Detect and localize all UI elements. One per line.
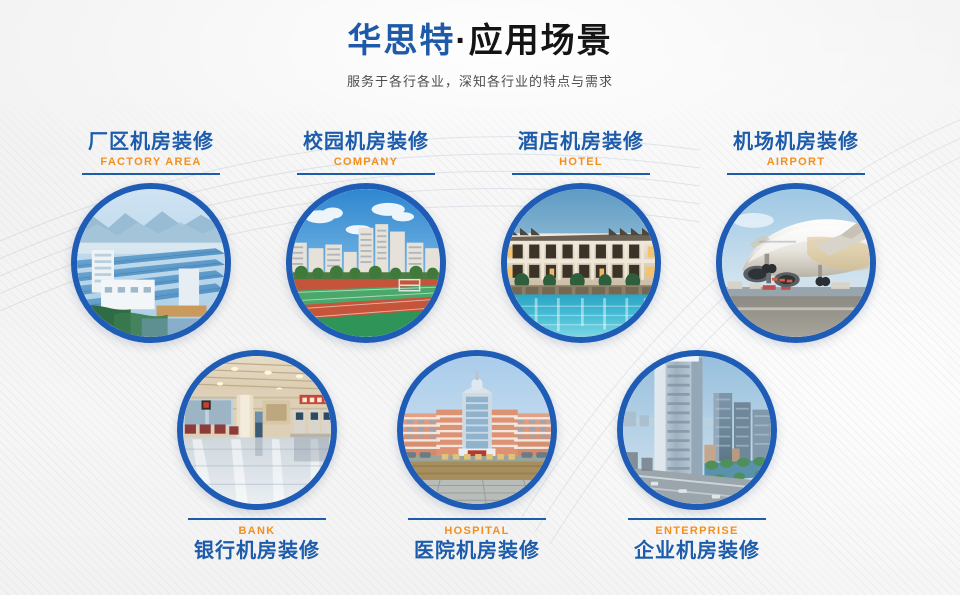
scenario-label-cn: 厂区机房装修 (51, 130, 251, 154)
banner-header: 华思特·应用场景 服务于各行各业，深知各行业的特点与需求 (0, 22, 960, 90)
scenario-label-cn: 银行机房装修 (157, 539, 357, 563)
airport-airplane-illustration (722, 189, 870, 337)
enterprise-skyline-illustration (623, 356, 771, 504)
airport-airplane-photo[interactable] (716, 183, 876, 343)
title-brand: 华思特 (347, 22, 455, 60)
label-underline (188, 518, 326, 520)
bank-lobby-photo[interactable] (177, 350, 337, 510)
scenario-label-cn: 企业机房装修 (597, 539, 797, 563)
scenario-card-hospital[interactable]: HOSPITAL 医院机房装修 (377, 350, 577, 563)
scenario-label-cn: 校园机房装修 (266, 130, 466, 154)
enterprise-skyline-photo[interactable] (617, 350, 777, 510)
hotel-resort-photo[interactable] (501, 183, 661, 343)
scenario-label-cn: 机场机房装修 (696, 130, 896, 154)
scenario-label-cn: 酒店机房装修 (481, 130, 681, 154)
title-rest: 应用场景 (469, 22, 613, 60)
title-separator: · (455, 22, 468, 60)
label-underline (727, 173, 865, 175)
hospital-building-photo[interactable] (397, 350, 557, 510)
page-title: 华思特·应用场景 (0, 22, 960, 61)
scenario-card-airport[interactable]: 机场机房装修 AIRPORT (696, 130, 896, 343)
scenario-label-en: HOSPITAL (377, 523, 577, 539)
scenario-label-en: ENTERPRISE (597, 523, 797, 539)
scenario-label-en: HOTEL (481, 154, 681, 170)
scenario-label-en: FACTORY AREA (51, 154, 251, 170)
campus-illustration (292, 189, 440, 337)
bank-lobby-illustration (183, 356, 331, 504)
scenario-card-enterprise[interactable]: ENTERPRISE 企业机房装修 (597, 350, 797, 563)
label-underline (628, 518, 766, 520)
scenario-label-en: COMPANY (266, 154, 466, 170)
scenario-card-bank[interactable]: BANK 银行机房装修 (157, 350, 357, 563)
scenario-card-hotel[interactable]: 酒店机房装修 HOTEL (481, 130, 681, 343)
label-underline (408, 518, 546, 520)
label-underline (82, 173, 220, 175)
page-subtitle: 服务于各行各业，深知各行业的特点与需求 (0, 71, 960, 90)
hospital-building-illustration (403, 356, 551, 504)
scenario-card-company[interactable]: 校园机房装修 COMPANY (266, 130, 466, 343)
label-underline (297, 173, 435, 175)
factory-area-illustration (77, 189, 225, 337)
scenario-card-factory[interactable]: 厂区机房装修 FACTORY AREA (51, 130, 251, 343)
hotel-resort-illustration (507, 189, 655, 337)
scenario-label-en: BANK (157, 523, 357, 539)
scenario-label-en: AIRPORT (696, 154, 896, 170)
factory-area-photo[interactable] (71, 183, 231, 343)
scenario-label-cn: 医院机房装修 (377, 539, 577, 563)
label-underline (512, 173, 650, 175)
application-scenarios-banner: 华思特·应用场景 服务于各行各业，深知各行业的特点与需求 厂区机房装修 FACT… (0, 0, 960, 595)
campus-photo[interactable] (286, 183, 446, 343)
